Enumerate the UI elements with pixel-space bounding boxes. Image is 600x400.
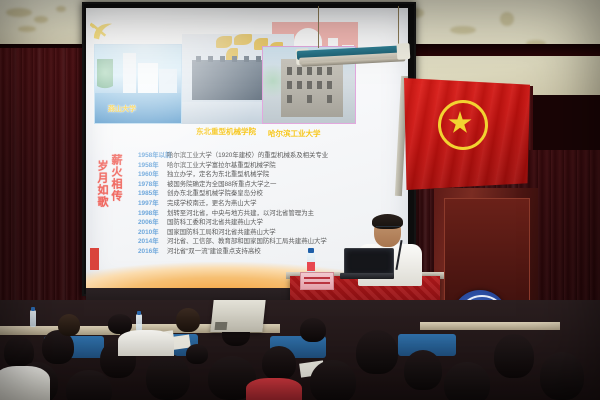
water-bottle-audience <box>30 310 36 327</box>
audience-head <box>186 344 208 364</box>
laptop <box>340 248 394 280</box>
flag-star-emblem <box>438 100 488 150</box>
audience-head <box>444 362 490 400</box>
audience-head <box>176 308 200 332</box>
audience-head <box>300 318 326 342</box>
timeline-year: 1998年 <box>138 208 164 217</box>
projector-glare <box>86 8 279 204</box>
timeline-text: 河北省“双一流”建设重点支持高校 <box>167 246 261 255</box>
eyeglasses-icon <box>376 226 400 232</box>
timeline-year: 2010年 <box>138 227 164 236</box>
audience-head <box>262 346 296 380</box>
timeline-text: 国家国防科工局和河北省共建燕山大学 <box>167 227 276 236</box>
water-bottle-audience <box>136 314 142 331</box>
audience <box>0 300 600 400</box>
timeline-year: 2014年 <box>138 236 164 245</box>
audience-head <box>356 330 398 374</box>
timeline-year: 2016年 <box>138 246 164 255</box>
projector-unit <box>210 300 265 332</box>
timeline-year: 2006年 <box>138 217 164 226</box>
timeline-text: 国防科工委和河北省共建燕山大学 <box>167 217 263 226</box>
timeline-text: 河北省、工信部、教育部和国家国防科工局共建燕山大学 <box>167 236 327 245</box>
lecture-hall-photo: 燕山大学 东北重型机械学院 哈尔滨工业大学 岁月如歌 薪火相传 1958年以前哈… <box>0 0 600 400</box>
audience-head <box>494 334 534 378</box>
name-placard <box>300 272 334 290</box>
audience-head <box>540 352 584 400</box>
timeline-text: 划转至河北省，中央与地方共建，以河北省管理为主 <box>167 208 314 217</box>
audience-head <box>146 354 190 400</box>
audience-head <box>310 360 356 400</box>
light-cord-left <box>318 6 319 48</box>
audience-head <box>58 314 80 336</box>
communist-youth-league-flag <box>404 78 530 190</box>
audience-head <box>404 350 442 390</box>
